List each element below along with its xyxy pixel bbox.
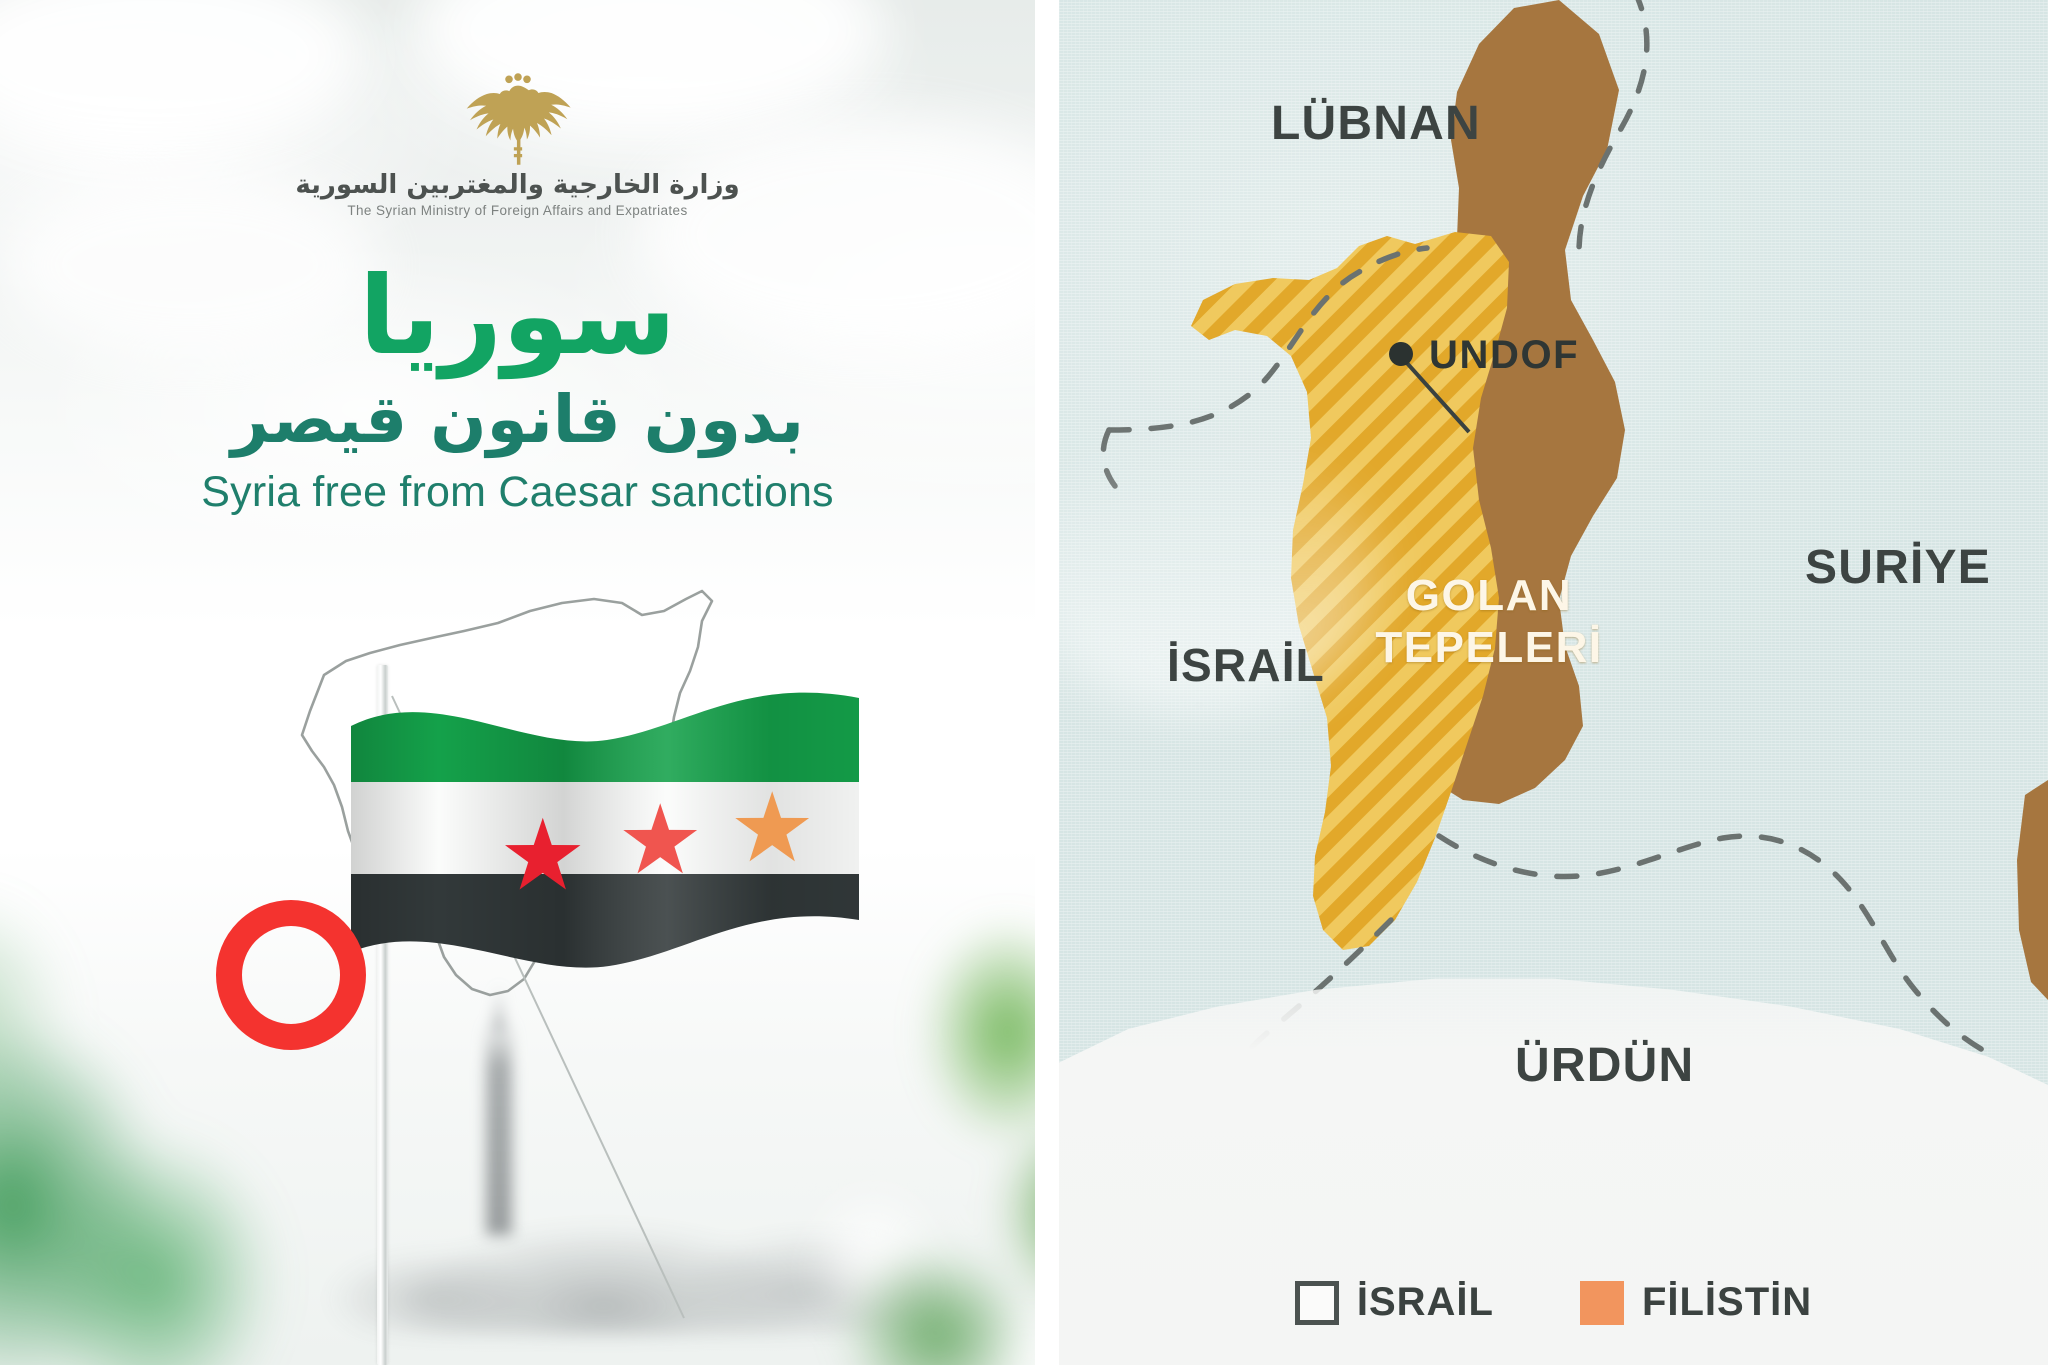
eagle-emblem-icon (464, 70, 572, 166)
legend-item-filistin: FİLİSTİN (1580, 1280, 1812, 1325)
undof-marker-dot (1389, 342, 1413, 366)
legend-swatch-israil (1295, 1281, 1339, 1325)
golan-label-line1: GOLAN (1359, 570, 1619, 622)
ministry-name-arabic: وزارة الخارجية والمغتربين السورية (295, 172, 739, 198)
map-label-suriye: SURİYE (1805, 540, 1991, 595)
screenshot-root: وزارة الخارجية والمغتربين السورية The Sy… (0, 0, 2048, 1365)
golan-label-line2: TEPELERİ (1359, 622, 1619, 674)
map-label-urdun: ÜRDÜN (1515, 1038, 1694, 1093)
poster-headline: سوريا بدون قانون قيصر Syria free from Ca… (0, 260, 1035, 517)
headline-arabic-primary: سوريا (0, 260, 1035, 373)
golan-heights-map: UNDOF LÜBNAN SURİYE İSRAİL ÜRDÜN GOLAN T… (1059, 0, 2048, 1365)
map-label-israil: İSRAİL (1167, 638, 1325, 692)
map-label-lubnan: LÜBNAN (1271, 96, 1481, 151)
red-circle-annotation (216, 900, 366, 1050)
map-legend: İSRAİL FİLİSTİN (1059, 1280, 2048, 1325)
brown-sliver-right (2017, 780, 2048, 1000)
legend-item-israil: İSRAİL (1295, 1280, 1494, 1325)
legend-label-israil: İSRAİL (1357, 1280, 1494, 1325)
map-area-label-golan: GOLAN TEPELERİ (1359, 570, 1619, 674)
panel-divider (1035, 0, 1059, 1365)
legend-label-filistin: FİLİSTİN (1642, 1280, 1812, 1325)
ministry-name-english: The Syrian Ministry of Foreign Affairs a… (347, 203, 687, 218)
map-label-undof: UNDOF (1429, 333, 1579, 378)
legend-swatch-filistin (1580, 1281, 1624, 1325)
syria-campaign-poster: وزارة الخارجية والمغتربين السورية The Sy… (0, 0, 1035, 1365)
syrian-opposition-flag (345, 680, 865, 980)
headline-english: Syria free from Caesar sanctions (0, 468, 1035, 517)
headline-arabic-secondary: بدون قانون قيصر (0, 379, 1035, 462)
ministry-logo: وزارة الخارجية والمغتربين السورية The Sy… (0, 70, 1035, 218)
